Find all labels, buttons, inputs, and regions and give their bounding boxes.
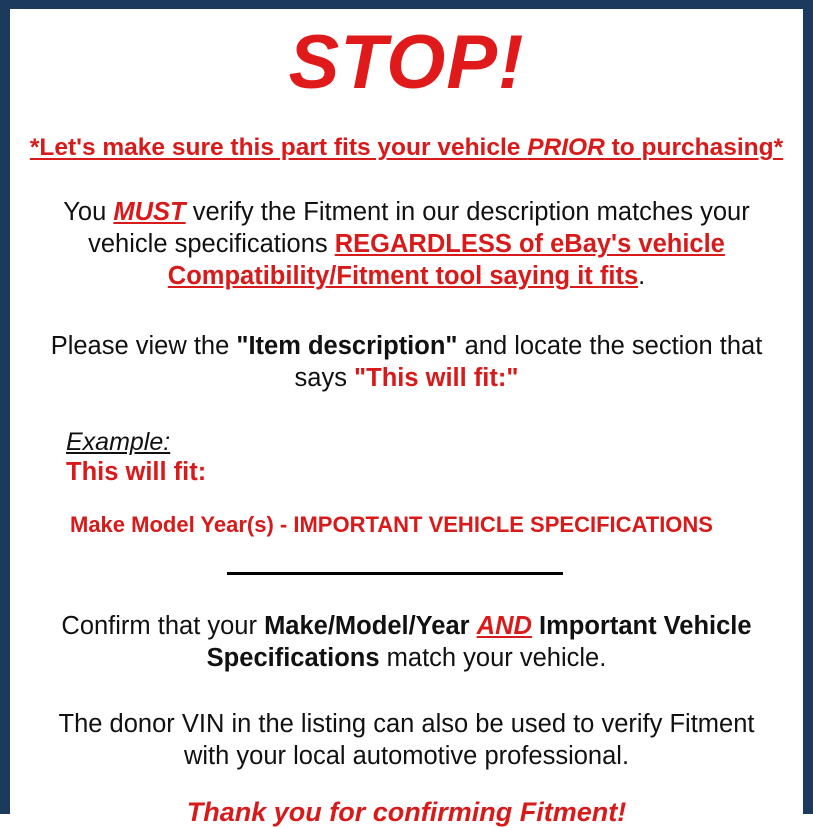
confirm-part-2	[470, 612, 477, 640]
view-part-1: Please view the	[51, 332, 237, 360]
divider	[22, 564, 791, 584]
item-description-emphasis: "Item description"	[236, 332, 457, 360]
example-block: Example: This will fit: Make Model Year(…	[22, 429, 791, 538]
divider-line	[227, 572, 563, 575]
confirm-part-4: match your vehicle.	[380, 644, 607, 672]
paragraph-confirm: Confirm that your Make/Model/Year AND Im…	[22, 610, 791, 674]
paragraph-item-description: Please view the "Item description" and l…	[22, 330, 791, 394]
and-emphasis: AND	[477, 612, 532, 640]
fitment-notice-card: STOP! *Let's make sure this part fits yo…	[0, 0, 813, 814]
stop-heading: STOP!	[22, 25, 791, 101]
must-part-1: You	[63, 198, 113, 226]
notice-content: STOP! *Let's make sure this part fits yo…	[10, 25, 803, 814]
tagline-trail: to purchasing*	[605, 134, 783, 161]
make-model-year-emphasis: Make/Model/Year	[264, 612, 470, 640]
confirm-part-1: Confirm that your	[61, 612, 264, 640]
example-label: Example:	[66, 429, 791, 457]
tagline-lead: *Let's make sure this part fits your veh…	[30, 134, 527, 161]
example-spec-line: Make Model Year(s) - IMPORTANT VEHICLE S…	[66, 512, 791, 537]
tagline: *Let's make sure this part fits your veh…	[22, 135, 791, 162]
this-will-fit-quote: "This will fit:"	[354, 364, 518, 392]
must-part-3: .	[638, 262, 645, 290]
thank-you-line: Thank you for confirming Fitment!	[22, 798, 791, 828]
paragraph-must-verify: You MUST verify the Fitment in our descr…	[22, 196, 791, 292]
must-emphasis: MUST	[113, 198, 185, 226]
tagline-emphasis-prior: PRIOR	[527, 134, 605, 161]
example-fit-header: This will fit:	[66, 458, 791, 487]
confirm-part-3	[532, 612, 539, 640]
paragraph-donor-vin: The donor VIN in the listing can also be…	[22, 708, 791, 772]
